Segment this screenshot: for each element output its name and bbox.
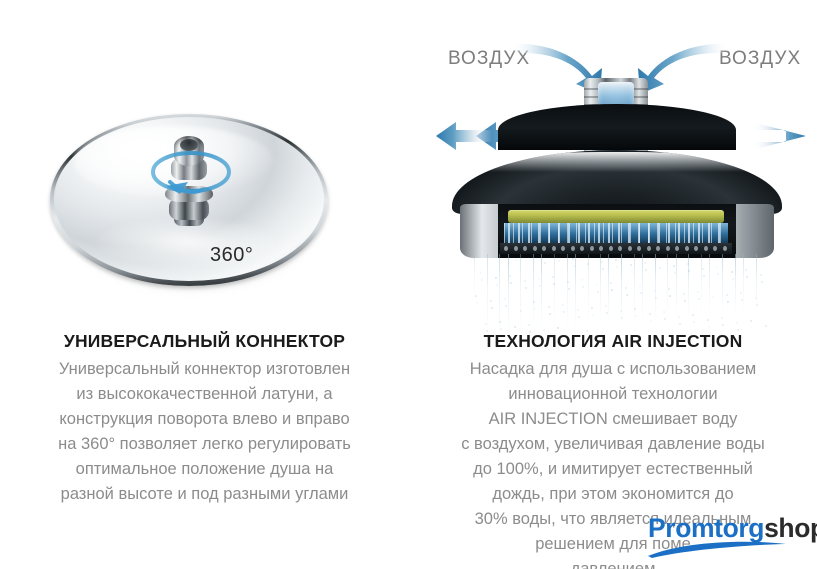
water-droplet xyxy=(601,261,603,263)
water-droplet xyxy=(534,308,536,310)
description-line: дождь, при этом экономится до xyxy=(409,482,817,507)
water-droplet xyxy=(708,326,710,328)
water-droplet xyxy=(668,288,670,290)
water-droplet xyxy=(645,269,647,271)
water-droplet xyxy=(659,267,661,269)
water-jet xyxy=(642,254,643,321)
water-droplet xyxy=(650,320,652,322)
water-droplet xyxy=(741,299,743,301)
water-droplet xyxy=(568,288,570,290)
water-droplet xyxy=(750,320,752,322)
chamber-vane xyxy=(658,223,660,243)
nozzle-hole xyxy=(685,246,689,251)
water-droplet xyxy=(514,326,516,328)
right-panel-title: ТЕХНОЛОГИЯ AIR INJECTION xyxy=(409,331,817,352)
water-droplet xyxy=(578,316,580,318)
water-jet xyxy=(600,254,601,325)
rotation-arrow-icon xyxy=(136,138,246,212)
water-droplet xyxy=(674,272,676,274)
water-droplet xyxy=(693,321,695,323)
description-line: разной высоте и под разными углами xyxy=(0,482,409,507)
water-droplet xyxy=(557,327,559,329)
water-droplet xyxy=(683,293,685,295)
water-droplet xyxy=(596,284,598,286)
water-jet xyxy=(756,254,757,311)
chamber-vane xyxy=(558,223,560,243)
nozzle-hole xyxy=(514,246,518,251)
water-droplet xyxy=(765,325,767,327)
water-droplet xyxy=(640,292,642,294)
water-droplet xyxy=(597,291,599,293)
water-droplet xyxy=(525,287,527,289)
water-droplet xyxy=(644,262,646,264)
chamber-vane xyxy=(548,223,550,243)
chamber-vane xyxy=(528,223,530,243)
shower-body-ring xyxy=(460,204,774,258)
water-droplet xyxy=(702,268,704,270)
water-jet xyxy=(655,254,656,320)
chamber-vane xyxy=(628,223,630,243)
water-droplet xyxy=(679,323,681,325)
water-droplet xyxy=(491,307,493,309)
water-jet xyxy=(533,254,534,331)
nozzle-hole xyxy=(552,246,556,251)
water-droplet xyxy=(634,308,636,310)
water-droplet xyxy=(533,301,535,303)
water-droplet xyxy=(563,311,565,313)
chamber-vane xyxy=(568,223,570,243)
water-droplet xyxy=(544,262,546,264)
nozzle-hole xyxy=(713,246,717,251)
chamber-vane xyxy=(538,223,540,243)
nozzle-hole xyxy=(504,246,508,251)
chamber-vane xyxy=(588,223,590,243)
water-jet xyxy=(508,254,509,333)
water-droplet xyxy=(505,305,507,307)
water-droplet xyxy=(630,264,632,266)
water-droplet xyxy=(745,269,747,271)
water-droplet xyxy=(553,283,555,285)
water-droplet xyxy=(528,324,530,326)
water-droplet xyxy=(732,278,734,280)
water-droplet xyxy=(510,282,512,284)
water-droplet xyxy=(490,300,492,302)
water-droplet xyxy=(500,328,502,330)
water-droplet xyxy=(481,279,483,281)
water-jet xyxy=(676,254,677,318)
nozzle-hole xyxy=(637,246,641,251)
chamber-vane xyxy=(598,223,600,243)
water-droplet xyxy=(669,295,671,297)
water-droplet xyxy=(639,285,641,287)
water-droplet xyxy=(620,310,622,312)
water-jet xyxy=(701,254,702,316)
water-droplet xyxy=(495,277,497,279)
left-feature-panel: 360° УНИВЕРСАЛЬНЫЙ КОННЕКТОР Универсальн… xyxy=(0,0,409,569)
water-droplet xyxy=(664,318,666,320)
water-droplet xyxy=(721,317,723,319)
water-jet xyxy=(667,254,668,319)
water-droplet xyxy=(631,271,633,273)
nozzle-hole xyxy=(656,246,660,251)
air-label-right: ВОЗДУХ xyxy=(719,48,801,70)
water-droplet xyxy=(740,292,742,294)
water-droplet xyxy=(615,259,617,261)
nozzle-hole xyxy=(723,246,727,251)
description-line: на 360° позволяет легко регулировать xyxy=(0,432,409,457)
nozzle-hole xyxy=(571,246,575,251)
water-spray xyxy=(466,254,768,336)
description-line: инновационной технологии xyxy=(409,382,817,407)
chamber-vane xyxy=(508,223,510,243)
water-droplet xyxy=(688,270,690,272)
water-droplet xyxy=(538,278,540,280)
chamber-vane xyxy=(698,223,700,243)
water-droplet xyxy=(476,302,478,304)
water-jet xyxy=(722,254,723,314)
water-droplet xyxy=(756,304,758,306)
water-droplet xyxy=(520,310,522,312)
chamber-vane xyxy=(718,223,720,243)
chamber-vane xyxy=(608,223,610,243)
water-droplet xyxy=(655,297,657,299)
water-droplet xyxy=(746,276,748,278)
water-droplet xyxy=(727,301,729,303)
nozzle-hole xyxy=(542,246,546,251)
nozzle-hole xyxy=(694,246,698,251)
water-droplet xyxy=(751,327,753,329)
chamber-vane xyxy=(688,223,690,243)
water-droplet xyxy=(582,286,584,288)
water-droplet xyxy=(602,268,604,270)
shower-head-cutaway xyxy=(452,78,782,318)
nozzle-hole xyxy=(675,246,679,251)
water-droplet xyxy=(692,314,694,316)
nozzle-hole xyxy=(580,246,584,251)
nozzle-hole xyxy=(590,246,594,251)
nozzle-hole xyxy=(704,246,708,251)
water-droplet xyxy=(703,275,705,277)
water-droplet xyxy=(472,258,474,260)
water-droplet xyxy=(678,316,680,318)
water-droplet xyxy=(663,311,665,313)
nozzle-hole xyxy=(647,246,651,251)
water-droplet xyxy=(649,313,651,315)
nozzle-hole xyxy=(523,246,527,251)
chamber-vane xyxy=(678,223,680,243)
water-droplet xyxy=(572,258,574,260)
water-droplet xyxy=(562,304,564,306)
water-droplet xyxy=(722,324,724,326)
description-line: оптимальное положение душа на xyxy=(0,457,409,482)
description-line: Универсальный коннектор изготовлен xyxy=(0,357,409,382)
nozzle-hole xyxy=(533,246,537,251)
description-line: Насадка для душа с использованием xyxy=(409,357,817,382)
chamber-vane xyxy=(578,223,580,243)
water-droplet xyxy=(673,265,675,267)
water-droplet xyxy=(552,276,554,278)
water-droplet xyxy=(558,260,560,262)
water-droplet xyxy=(726,294,728,296)
promtorgshop-logo[interactable]: Promtorgshop xyxy=(648,513,808,557)
water-droplet xyxy=(687,263,689,265)
water-droplet xyxy=(731,271,733,273)
water-droplet xyxy=(485,323,487,325)
water-droplet xyxy=(717,273,719,275)
water-droplet xyxy=(616,266,618,268)
nozzle-hole xyxy=(628,246,632,251)
water-droplet xyxy=(591,307,593,309)
logo-swoosh-icon xyxy=(646,539,802,559)
water-jet xyxy=(608,254,609,324)
water-droplet xyxy=(712,296,714,298)
description-line: из высококачественной латуни, а xyxy=(0,382,409,407)
chamber-vane xyxy=(638,223,640,243)
left-panel-description: Универсальный коннектор изготовлениз выс… xyxy=(0,357,409,507)
water-droplet xyxy=(684,300,686,302)
water-droplet xyxy=(577,309,579,311)
dome-highlight xyxy=(458,152,776,172)
water-droplet xyxy=(654,290,656,292)
water-droplet xyxy=(625,287,627,289)
water-droplet xyxy=(567,281,569,283)
description-line: конструкция поворота влево и вправо xyxy=(0,407,409,432)
left-panel-title: УНИВЕРСАЛЬНЫЙ КОННЕКТОР xyxy=(0,331,409,352)
water-droplet xyxy=(697,291,699,293)
water-droplet xyxy=(605,305,607,307)
chamber-vane xyxy=(648,223,650,243)
water-droplet xyxy=(499,321,501,323)
water-droplet xyxy=(621,317,623,319)
water-droplet xyxy=(539,285,541,287)
nozzle-hole xyxy=(618,246,622,251)
water-droplet xyxy=(504,298,506,300)
water-droplet xyxy=(480,272,482,274)
water-droplet xyxy=(519,303,521,305)
water-jet xyxy=(709,254,710,315)
water-droplet xyxy=(736,322,738,324)
water-droplet xyxy=(587,263,589,265)
water-droplet xyxy=(698,298,700,300)
water-jet xyxy=(520,254,521,332)
air-injection-filter-plate xyxy=(508,210,724,223)
water-droplet xyxy=(549,313,551,315)
water-droplet xyxy=(524,280,526,282)
nozzle-hole xyxy=(599,246,603,251)
water-droplet xyxy=(635,315,637,317)
water-droplet xyxy=(548,306,550,308)
water-droplet xyxy=(755,297,757,299)
water-droplet xyxy=(707,319,709,321)
water-droplet xyxy=(496,284,498,286)
description-line: с воздухом, увеличивая давление воды xyxy=(409,432,817,457)
nozzle-hole xyxy=(561,246,565,251)
water-droplet xyxy=(475,295,477,297)
water-jet xyxy=(743,254,744,312)
chamber-vane xyxy=(518,223,520,243)
water-droplet xyxy=(573,265,575,267)
dome-cutaway-interior xyxy=(498,104,736,150)
description-line: AIR INJECTION смешивает воду xyxy=(409,407,817,432)
water-droplet xyxy=(611,289,613,291)
water-droplet xyxy=(610,282,612,284)
water-droplet xyxy=(515,259,517,261)
water-droplet xyxy=(626,294,628,296)
chamber-vane xyxy=(668,223,670,243)
water-droplet xyxy=(760,274,762,276)
water-jet xyxy=(554,254,555,329)
water-jet xyxy=(621,254,622,323)
water-droplet xyxy=(716,266,718,268)
infographic-canvas: 360° УНИВЕРСАЛЬНЫЙ КОННЕКТОР Универсальн… xyxy=(0,0,817,569)
water-jet xyxy=(474,254,475,298)
water-jet xyxy=(735,254,736,313)
water-jet xyxy=(634,254,635,322)
water-droplet xyxy=(592,314,594,316)
description-line: до 100%, и имитирует естественный xyxy=(409,457,817,482)
nozzle-hole xyxy=(609,246,613,251)
chrome-disc-illustration: 360° xyxy=(48,108,332,294)
water-droplet xyxy=(761,281,763,283)
water-droplet xyxy=(581,279,583,281)
chamber-vane xyxy=(708,223,710,243)
chamber-vane xyxy=(618,223,620,243)
water-jet xyxy=(567,254,568,328)
rotation-degree-label: 360° xyxy=(210,244,253,267)
water-droplet xyxy=(606,312,608,314)
water-jet xyxy=(541,254,542,330)
nozzle-hole xyxy=(666,246,670,251)
water-droplet xyxy=(509,275,511,277)
